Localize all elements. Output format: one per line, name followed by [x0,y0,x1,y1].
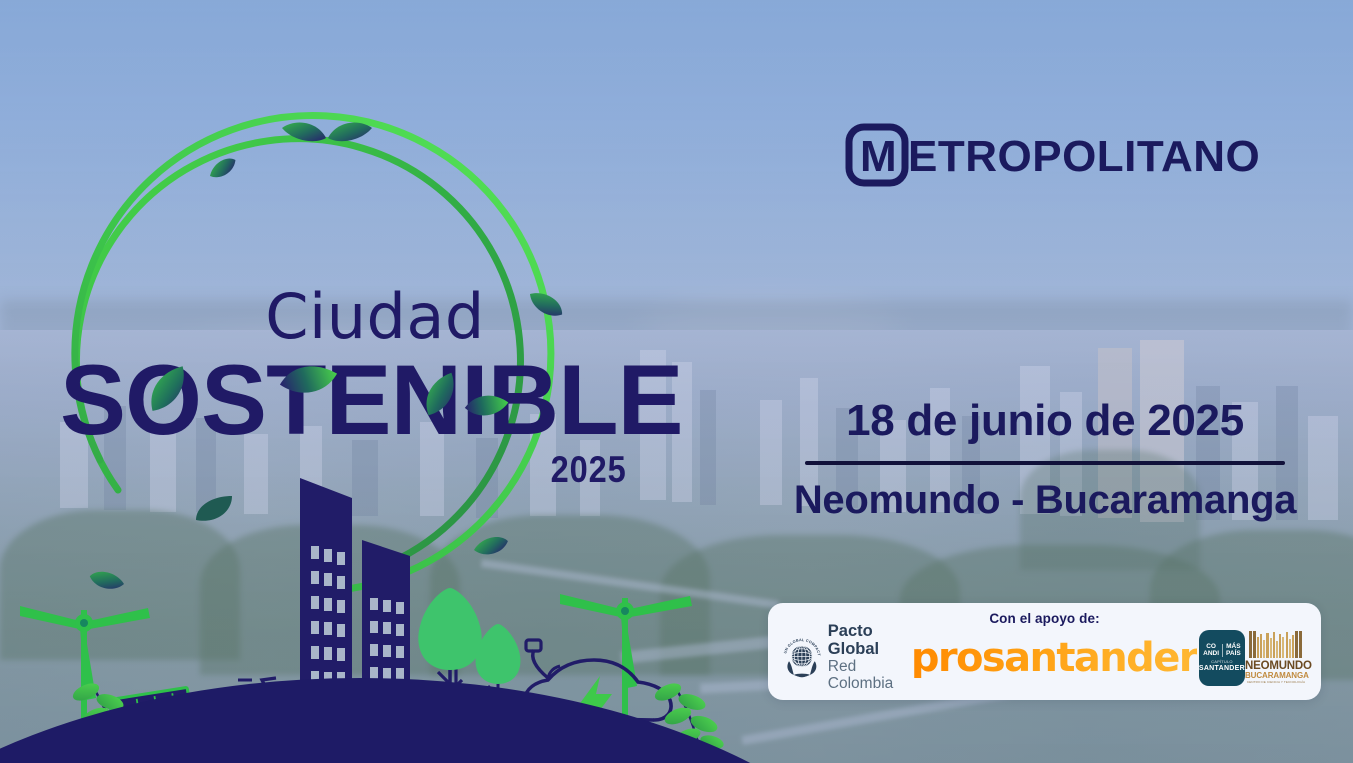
leaf-icon [140,362,210,432]
sponsor-pacto-global: UN GLOBAL COMPACT Pacto Global Red Colom… [781,623,909,692]
prosantander-wordmark: prosantander [911,638,1197,678]
title-line-ciudad: Ciudad [60,286,660,348]
neomundo-logo: NEOMUNDO BUCARAMANGA CENTRO DE CIENCIA Y… [1245,631,1307,685]
badge-divider [1222,644,1223,657]
svg-text:M: M [860,132,897,181]
pais-label: PAÍS [1226,650,1241,657]
un-global-compact-icon: UN GLOBAL COMPACT [781,632,823,684]
metropolitano-logo: M ETROPOLITANO [846,124,1246,186]
andi-sub: CAPÍTULO [1211,659,1233,664]
svg-text:ETROPOLITANO: ETROPOLITANO [908,132,1260,181]
title-year: 2025 [132,449,660,491]
neomundo-bars-icon [1245,631,1307,658]
divider-rule [805,461,1285,465]
neomundo-tagline: CENTRO DE CIENCIA Y TECNOLOGÍA [1245,681,1307,685]
event-venue: Neomundo - Bucaramanga [775,479,1315,522]
leaf-icon [462,382,520,440]
poster-canvas: Ciudad SOSTENIBLE 2025 [0,0,1353,763]
event-details: 18 de junio de 2025 Neomundo - Bucaraman… [775,398,1315,522]
andi-name: ANDI [1203,650,1219,657]
leaf-icon [196,496,232,521]
sponsor-panel: Con el apoyo de: [768,603,1321,700]
andi-mas-pais-badge: CO ANDI MÁS PAÍS CAPÍTULO SANTANDER [1199,630,1245,686]
andi-santander: SANTANDER [1199,665,1245,672]
pacto-global-line1: Pacto Global [828,623,909,659]
event-date: 18 de junio de 2025 [775,398,1315,445]
neomundo-city: BUCARAMANGA [1245,672,1307,680]
pacto-global-line2: Red Colombia [828,659,909,692]
leaf-icon [276,352,350,426]
